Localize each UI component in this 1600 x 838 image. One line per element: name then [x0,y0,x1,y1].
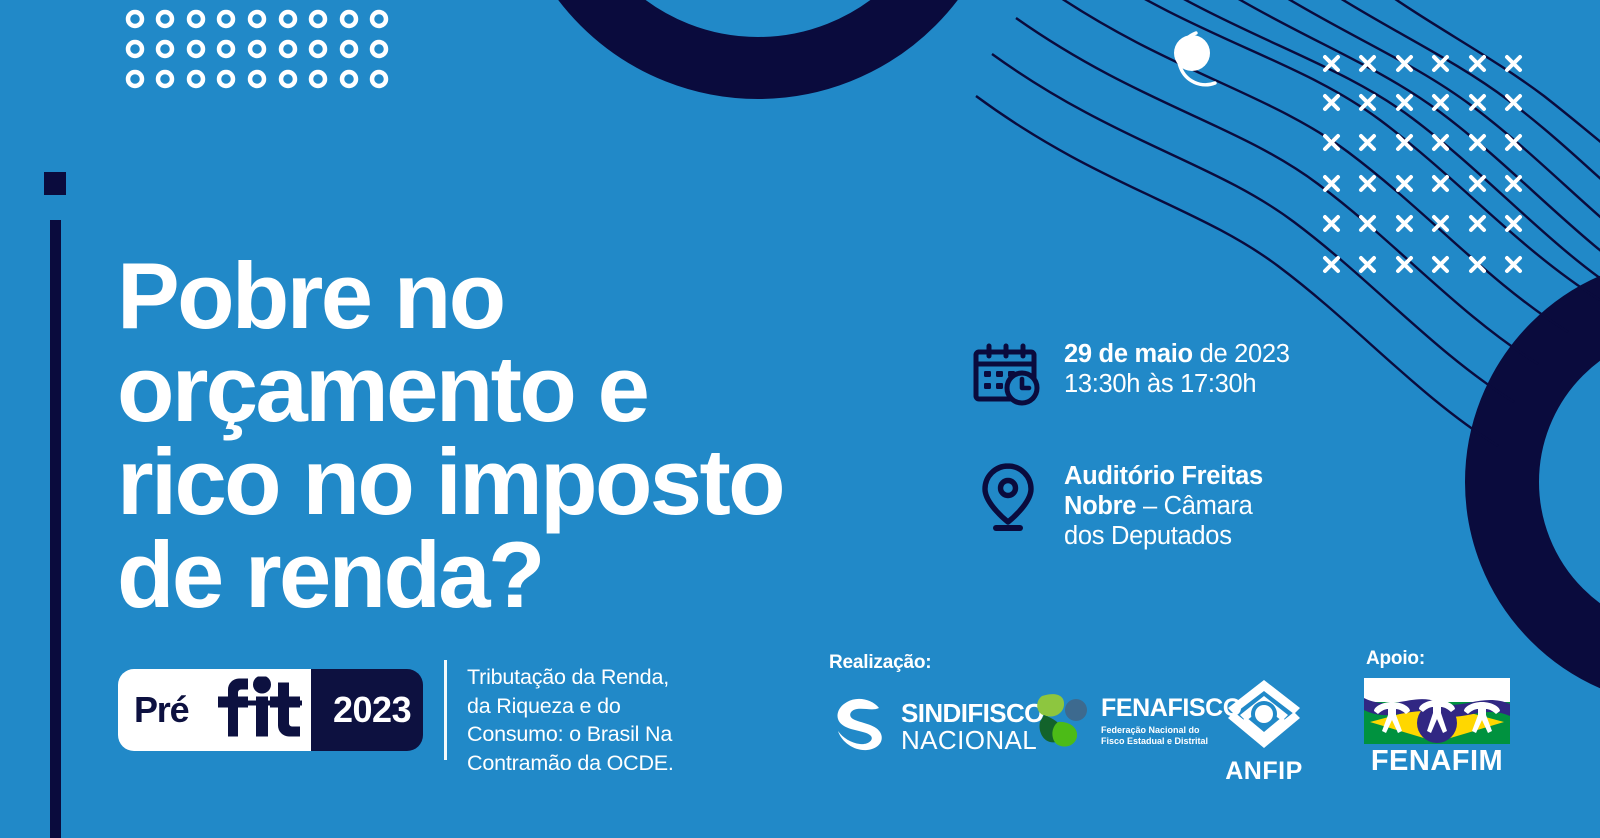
sindifisco-name-bottom: NACIONAL [901,727,1044,753]
venue-org-part: – Câmara [1136,492,1252,520]
event-subtitle: Tributação da Renda, da Riqueza e do Con… [467,663,767,777]
fenafisco-sub-line1: Federação Nacional do [1101,725,1242,736]
fenafim-wordmark: FENAFIM [1364,745,1510,778]
event-location-text: Auditório Freitas Nobre – Câmara dos Dep… [1064,458,1263,551]
navy-ring-arc-right [1502,294,1600,670]
subtitle-line-4: Contramão da OCDE. [467,749,767,778]
event-location-row: Auditório Freitas Nobre – Câmara dos Dep… [972,458,1392,551]
prefit-logo-left: Pré [118,669,311,751]
event-date-bold: 29 de maio [1064,340,1193,368]
prefit-logo-right: 2023 [311,669,423,751]
event-date-rest: de 2023 [1193,340,1290,368]
event-time: 13:30h às 17:30h [1064,370,1290,400]
prefit-pre-text: Pré [134,689,188,731]
venue-name-line1: Auditório Freitas [1064,462,1263,490]
sindifisco-wordmark: SINDIFISCO NACIONAL [901,700,1044,753]
prefit-fit-mark-icon [212,677,308,744]
prefit-logo[interactable]: Pré [118,669,423,751]
headline-line-3: rico no imposto [117,435,947,528]
calendar-clock-icon [972,338,1044,410]
prefit-year: 2023 [333,689,411,731]
circle-dot-grid [128,12,386,86]
navy-vertical-rule [50,220,61,838]
navy-square-accent [44,172,66,195]
x-mark-grid [1325,57,1520,271]
logo-subtitle-divider [444,660,447,760]
poster-canvas: Pobre no orçamento e rico no imposto de … [0,0,1600,838]
event-date-text: 29 de maio de 2023 13:30h às 17:30h [1064,336,1290,400]
venue-name-line2: Nobre [1064,492,1136,520]
fenafisco-logo[interactable]: FENAFISCO Federação Nacional do Fisco Es… [1032,688,1242,755]
white-circle-with-arc [1174,33,1215,85]
anfip-logo[interactable]: ANFIP [1222,678,1306,786]
headline-line-2: orçamento e [117,342,947,435]
sindifisco-s-icon [827,693,889,760]
fenafim-flag-figures-icon [1364,678,1510,744]
map-pin-icon [972,460,1044,532]
fenafisco-wordmark: FENAFISCO Federação Nacional do Fisco Es… [1101,696,1242,748]
subtitle-line-1: Tributação da Renda, [467,663,767,692]
headline-line-4: de renda? [117,528,947,621]
fenafisco-name: FENAFISCO [1101,696,1242,721]
headline-line-1: Pobre no [117,249,947,342]
apoio-label: Apoio: [1366,648,1425,670]
prefit-logo-pill: Pré [118,669,423,751]
event-details: 29 de maio de 2023 13:30h às 17:30h Audi… [972,336,1392,551]
subtitle-line-2: da Riqueza e do [467,692,767,721]
event-date-row: 29 de maio de 2023 13:30h às 17:30h [972,336,1392,410]
anfip-chevron-icon [1222,737,1306,754]
venue-org-line3: dos Deputados [1064,522,1263,552]
sindifisco-logo[interactable]: SINDIFISCO NACIONAL [827,693,1044,760]
realizacao-label: Realização: [829,652,931,674]
anfip-wordmark: ANFIP [1222,757,1306,786]
fenafisco-sub-line2: Fisco Estadual e Distrital [1101,736,1242,747]
sindifisco-name-top: SINDIFISCO [901,700,1044,726]
subtitle-line-3: Consumo: o Brasil Na [467,720,767,749]
page-title: Pobre no orçamento e rico no imposto de … [117,249,947,621]
navy-ring-arc-top [538,0,978,68]
fenafisco-mark-icon [1032,688,1090,755]
fenafim-logo[interactable]: FENAFIM [1364,678,1510,778]
